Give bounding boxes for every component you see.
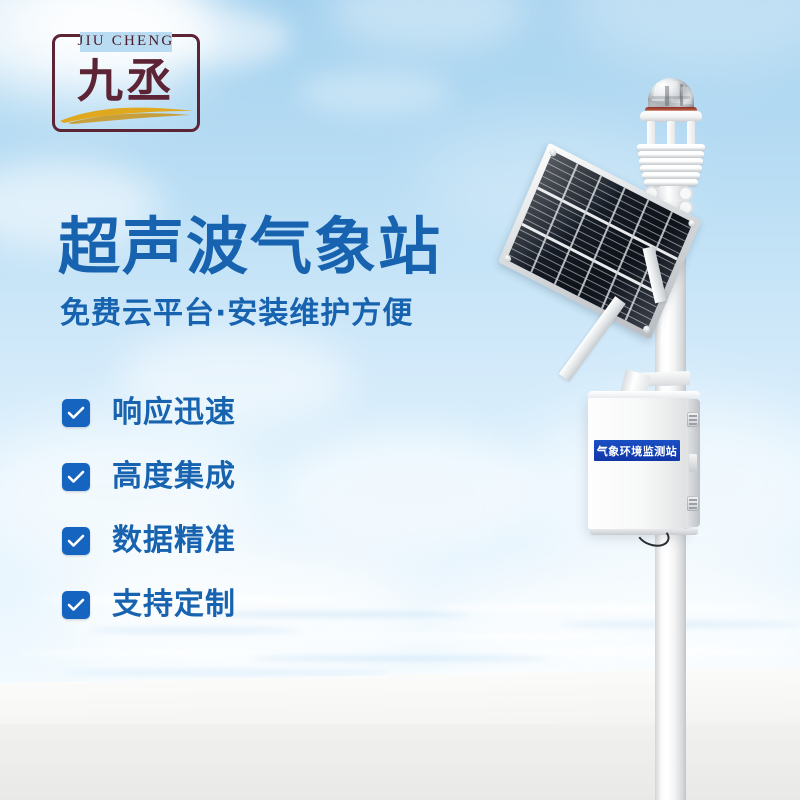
radiation-shield-fin	[637, 144, 705, 151]
weather-station-product-image: 气象环境监测站	[0, 0, 800, 800]
sensor-post	[667, 121, 675, 146]
sensor-post	[687, 121, 695, 146]
enclosure-top-lid	[588, 391, 700, 398]
enclosure-box: 气象环境监测站	[588, 396, 686, 530]
enclosure-label-text: 气象环境监测站	[597, 443, 678, 459]
radiation-shield-fin	[644, 179, 698, 186]
status-badge: 气象环境监测站	[594, 440, 680, 461]
u-bolt-clamp	[678, 186, 693, 201]
radiation-shield-fin	[642, 172, 700, 179]
sensor-dome-icon	[648, 78, 694, 110]
advertisement-banner: JIU CHENG 九丞 超声波气象站 免费云平台·安装维护方便 响应迅速 高度…	[0, 0, 800, 800]
enclosure-hinge	[687, 412, 699, 427]
ultrasonic-sensor-head	[634, 78, 708, 198]
enclosure-hinge	[687, 496, 699, 511]
sensor-post	[647, 121, 655, 146]
radiation-shield-fin	[640, 165, 702, 172]
radiation-shield-fin	[638, 151, 704, 158]
enclosure-latch	[689, 454, 697, 472]
radiation-shield-fin	[639, 158, 703, 165]
